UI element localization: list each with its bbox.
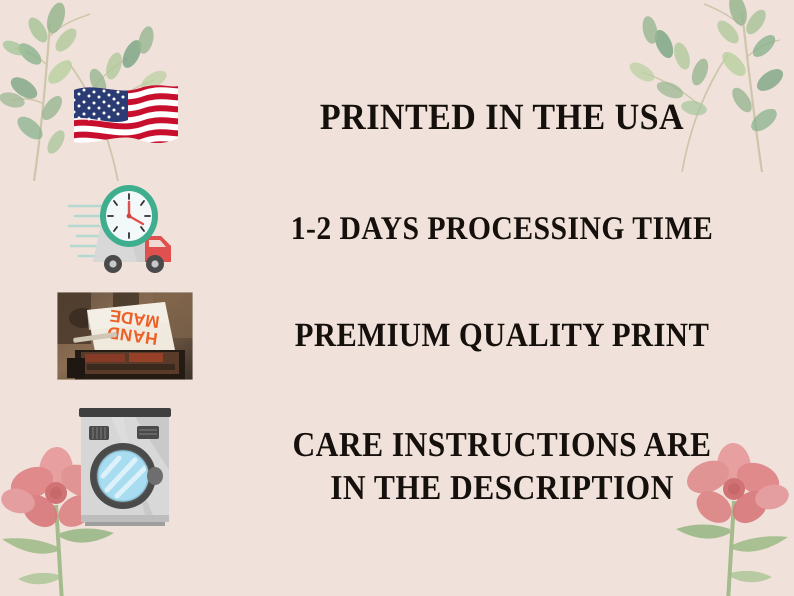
feature-text-cell: PRINTED IN THE USA <box>250 98 794 138</box>
feature-label-premium-quality-print: PREMIUM QUALITY PRINT <box>275 318 729 355</box>
us-flag-icon <box>66 76 184 160</box>
feature-row-care-instructions: CARE INSTRUCTIONS ARE IN THE DESCRIPTION <box>0 392 794 542</box>
feature-label-care-instructions: CARE INSTRUCTIONS ARE IN THE DESCRIPTION <box>275 424 729 509</box>
feature-icon-cell <box>0 180 250 280</box>
feature-icon-cell <box>0 404 250 530</box>
feature-row-printed-in-the-usa: PRINTED IN THE USA <box>0 68 794 168</box>
feature-icon-cell <box>0 76 250 160</box>
feature-icon-cell: HAND MADE <box>0 292 250 380</box>
feature-label-printed-in-the-usa: PRINTED IN THE USA <box>270 98 734 138</box>
feature-row-premium-quality-print: HAND MADE PREMIUM QUALITY PRINT <box>0 286 794 386</box>
feature-text-cell: 1-2 DAYS PROCESSING TIME <box>250 212 794 248</box>
washing-machine-icon <box>75 404 175 530</box>
feature-text-cell: PREMIUM QUALITY PRINT <box>250 318 794 355</box>
promo-graphic-canvas: PRINTED IN THE USA <box>0 0 794 596</box>
feature-row-processing-time: 1-2 DAYS PROCESSING TIME <box>0 178 794 282</box>
feature-label-processing-time: 1-2 DAYS PROCESSING TIME <box>275 212 729 248</box>
screen-printing-photo-icon: HAND MADE <box>57 292 193 380</box>
feature-text-cell: CARE INSTRUCTIONS ARE IN THE DESCRIPTION <box>250 424 794 509</box>
fast-delivery-truck-clock-icon <box>67 180 183 280</box>
